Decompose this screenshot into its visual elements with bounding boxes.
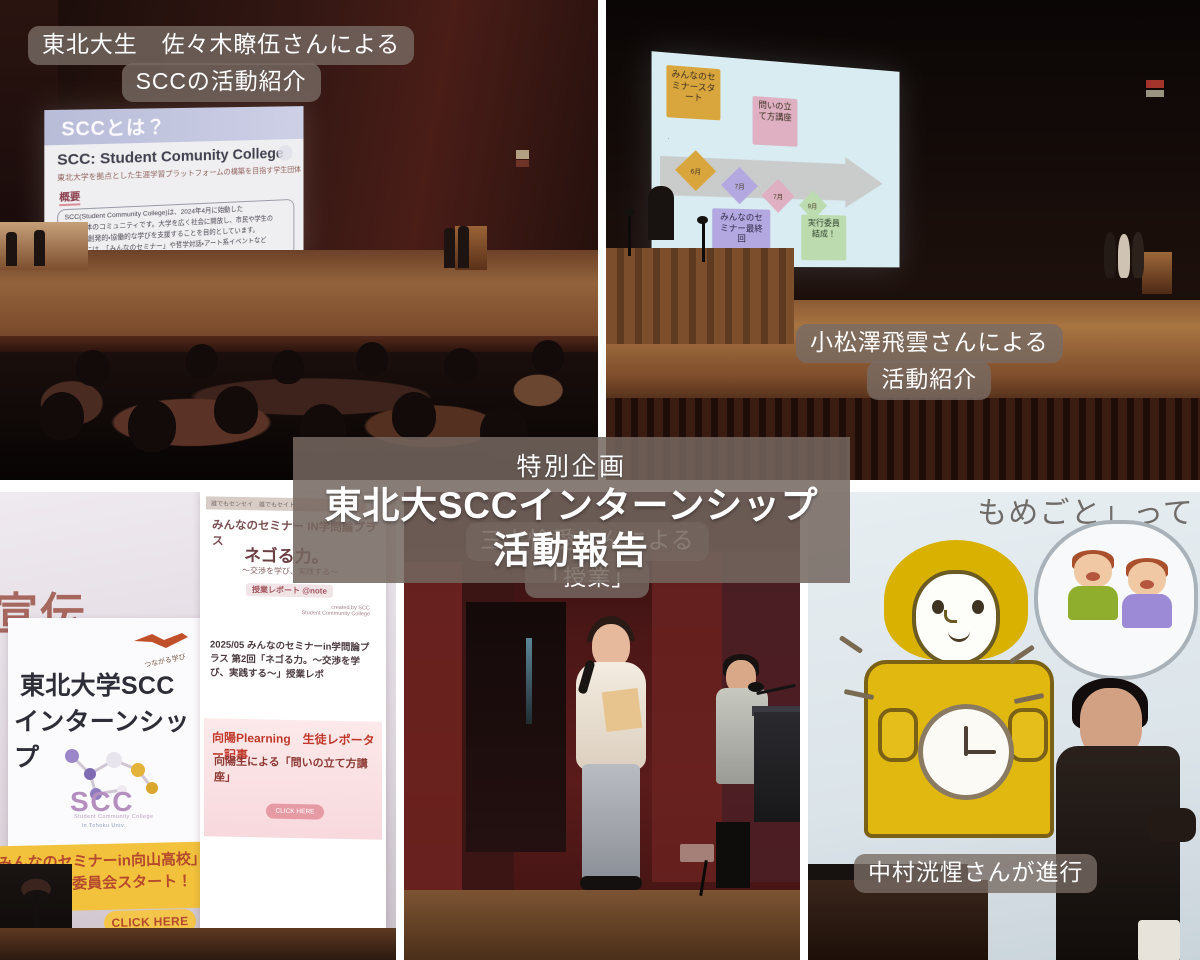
clock-minute-hand [966,750,996,754]
standing-speaker [458,226,469,268]
person-body [1068,586,1118,620]
promo-line2: 向陽生による「問いの立て方講座」 [214,752,382,787]
host-arm [1148,808,1196,842]
floor-speaker [716,822,750,888]
presenter-legs [582,764,640,882]
title-line-2: 活動報告 [493,529,650,573]
month-label: 7月 [773,191,783,201]
audience-head [76,350,110,386]
title-kicker: 特別企画 [516,447,626,483]
lectern [754,712,800,822]
seated-presenter [648,186,674,240]
projection-scene-bottom-right: もめごと」って [808,492,1200,960]
person-head [1128,562,1166,596]
projection-screen-timeline: みんなのセミナースタート 問いの立て方講座 みんなのセミナー最終回 実行委員結成… [652,51,900,267]
illustration-nose [944,610,957,623]
photo-tile-top-right: みんなのセミナースタート 問いの立て方講座 みんなのセミナー最終回 実行委員結成… [606,0,1200,480]
scc-logo-sub: Student Community College [74,814,153,820]
illustration-eye [972,600,984,614]
promo-click-here-button[interactable]: CLICK HERE [266,803,324,819]
card-promo-block: 向陽Plearning 生徒レポーター記事 向陽生による「問いの立て方講座」 C… [204,718,382,839]
door-light-strip [526,638,532,724]
audience-head [356,342,388,376]
presenter-shoes [580,876,642,890]
microphone-head [748,682,764,692]
microphone-stand [628,214,631,256]
microphone-head [624,208,635,216]
illustration-hand [1008,708,1048,762]
audience-head [214,386,258,434]
stage-scene-top-right: みんなのセミナースタート 問いの立て方講座 みんなのセミナー最終回 実行委員結成… [606,0,1200,480]
card-credit: created by SCC Student Community College [302,604,370,617]
timeline-box-committee-formed: 実行委員結成！ [801,214,846,260]
seated-person [34,230,45,266]
panel-desk [606,248,794,344]
audience-head [444,348,478,384]
poster-title-block: 特別企画 東北大SCCインターンシップ 活動報告 [293,437,850,583]
handshake-icon [132,628,190,654]
wall-panel [404,562,462,892]
presenter-figure [1118,234,1130,278]
illustration-eye [932,600,944,614]
wall-sign-red [1146,80,1164,88]
presenter-figure [1104,232,1116,278]
scc-logo-sub2: in Tohoku Univ. [82,823,126,829]
card-body-text: 2025/05 みんなのセミナーin学問論プラス 第2回「ネゴる力。〜交渉を学び… [210,638,378,683]
presenter-figure [1132,232,1144,278]
photo-tile-top-left: SCCとは？ SCC: Student Comunity College 東北大… [0,0,598,480]
foreground-desk-top [808,864,968,880]
credit-line2: Student Community College [302,610,370,617]
month-label: 7月 [735,180,745,191]
microphone-head [697,216,708,224]
exit-sign-secondary [516,160,529,167]
podium [1142,252,1172,294]
timeline-box-question-course: 問いの立て方講座 [753,96,798,147]
foreground-desk [0,928,396,960]
wall-panel [652,552,722,882]
photo-collage-poster: SCCとは？ SCC: Student Comunity College 東北大… [0,0,1200,960]
foreground-desk [808,880,988,960]
audience-head [128,400,176,452]
wall-sign-light [1146,90,1164,97]
card-tag: 授業レポート @note [246,583,333,598]
slide-card-internship: つながる学び 東北大学SCC インターンシップ SCC [8,618,204,850]
card-title-line1: 東北大学SCC [20,666,175,702]
person-mouth [1086,572,1100,581]
illustration-person-green [1066,554,1120,620]
slide-section-label: 概要 [59,188,80,206]
audience-head [532,340,564,374]
month-label: 6月 [691,165,701,176]
audience-head [186,344,218,378]
exit-sign [516,150,529,159]
illustration-hand [878,708,918,762]
illustration-person-purple [1120,562,1174,628]
slide-header: SCCとは？ [44,106,303,145]
audience-head [272,350,304,384]
auditorium-scene-top-left: SCCとは？ SCC: Student Comunity College 東北大… [0,0,598,480]
host-bag [1138,920,1180,960]
wall-outlet [680,844,714,862]
title-line-1: 東北大SCCインターンシップ [325,485,819,528]
microphone-stand [702,222,705,262]
stage-floor [404,890,800,960]
photo-tile-bottom-right: もめごと」って [808,492,1200,960]
person-mouth [1140,580,1154,589]
timeline-box-seminar-start: みんなのセミナースタート [666,65,720,120]
person-head [1074,554,1112,588]
standing-speaker [444,228,455,268]
audience-head [40,392,84,440]
seated-person [6,232,17,266]
person-body [1122,594,1172,628]
audience-head [392,392,436,440]
presenter-notes [602,688,643,732]
stage-doorway [466,602,566,852]
month-label: 9月 [808,200,818,210]
